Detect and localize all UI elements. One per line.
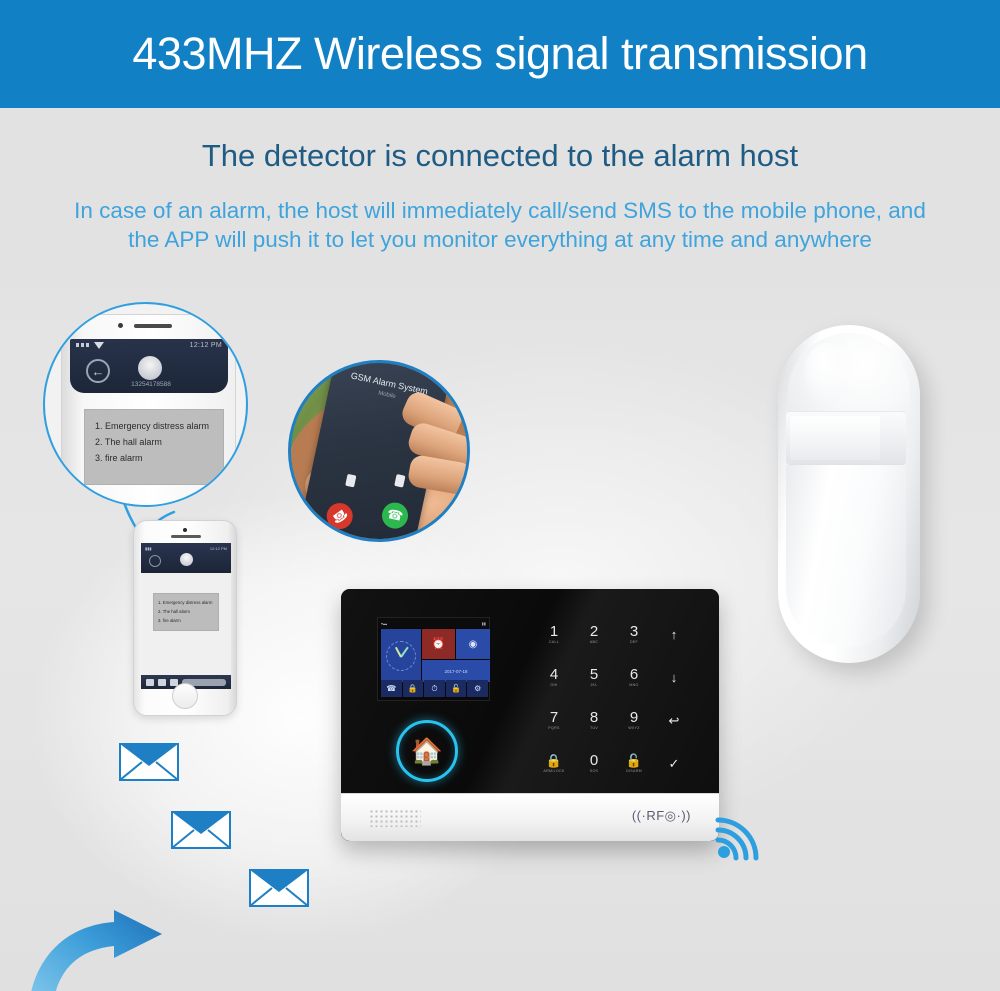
key-digit: 3 (630, 625, 638, 639)
arrow-down-icon: ↓ (671, 671, 678, 685)
sms-line: 1. Emergency distress alarm (95, 418, 215, 434)
panel-base: ((·RF◎·)) (341, 793, 719, 841)
sms-line: 2. The hall alarm (158, 607, 218, 616)
home-button[interactable] (172, 683, 198, 709)
speaker-grille-icon (369, 809, 421, 827)
incoming-call-callout-circle: GSM Alarm System Mobile ☎ ☎ (288, 360, 470, 542)
lcd-icon-row: ☎ 🔒 ⏱ 🔓 ⚙ (381, 680, 488, 697)
infographic-page: 433MHZ Wireless signal transmission The … (0, 0, 1000, 991)
key-back[interactable]: ↩ (654, 699, 694, 742)
key-letters: PQRS (548, 726, 559, 730)
sms-line: 2. The hall alarm (95, 434, 215, 450)
key-8[interactable]: 8 TUV (574, 699, 614, 742)
envelope-icon (248, 866, 310, 910)
key-letters: ARM/LOCK (543, 769, 564, 773)
back-arrow-icon[interactable] (149, 555, 161, 567)
alarm-bell-tile[interactable]: ⏰ (422, 629, 455, 659)
globe-tile[interactable]: ◉ (456, 629, 490, 659)
phone-answer-icon[interactable]: ☎ (380, 500, 411, 531)
key-3[interactable]: 3 DEF (614, 613, 654, 656)
alarm-bell-icon: ⏰ (432, 639, 446, 650)
iphone-screen: ▮▮▮ 12:12 PM 1. Emergency distress alarm… (141, 543, 231, 689)
settings-icon[interactable]: ⚙ (467, 680, 488, 697)
wifi-icon (94, 342, 104, 349)
phone-hangup-icon[interactable]: ☎ (322, 498, 358, 534)
status-time: 12:12 PM (210, 546, 227, 551)
key-letters: DEF (630, 640, 638, 644)
earpiece-speaker (171, 535, 201, 538)
arrow-up-icon: ↑ (671, 628, 678, 642)
checkmark-icon: ✓ (669, 757, 680, 771)
camera-icon (146, 679, 154, 686)
key-digit: 7 (550, 711, 558, 725)
envelope-icon (170, 808, 232, 852)
unlock-icon: 🔓 (626, 754, 642, 768)
lcd-status-left: ▾▬ (381, 621, 387, 626)
key-letters: GHI (550, 683, 557, 687)
key-digit: 6 (630, 668, 638, 682)
fresnel-lens (786, 411, 906, 465)
key-digit: 8 (590, 711, 598, 725)
status-bar: 12:12 PM (70, 339, 228, 351)
sms-app-bar: 12:12 PM ← 13254178588 (70, 339, 228, 393)
avatar (180, 553, 193, 566)
sms-app-bar: ▮▮▮ 12:12 PM (141, 543, 231, 573)
key-2[interactable]: 2 ABC (574, 613, 614, 656)
key-letters: CALL (549, 640, 559, 644)
gallery-icon (158, 679, 166, 686)
key-arm-lock[interactable]: 🔒 ARM/LOCK (534, 742, 574, 785)
key-digit: 4 (550, 668, 558, 682)
sms-line: 1. Emergency distress alarm (158, 598, 218, 607)
key-4[interactable]: 4 GHI (534, 656, 574, 699)
wifi-signal-icon (714, 816, 760, 862)
product-stage: 12:12 PM ← 13254178588 1. Emergency dist… (0, 288, 1000, 991)
key-letters: TUV (590, 726, 598, 730)
pir-motion-detector (778, 325, 920, 663)
key-letters: MNO (629, 683, 638, 687)
header-band: 433MHZ Wireless signal transmission (0, 0, 1000, 108)
key-9[interactable]: 9 WXYZ (614, 699, 654, 742)
rfid-logo: ((·RF◎·)) (632, 808, 691, 824)
key-letters: DISARM (626, 769, 642, 773)
bell-icon[interactable]: ⏱ (424, 680, 445, 697)
alarm-host-panel: ▾▬ ▮▮ ⏰ ◉ 2017-07- (341, 589, 719, 841)
body-copy: In case of an alarm, the host will immed… (70, 196, 930, 254)
callout-phone-body: 12:12 PM ← 13254178588 1. Emergency dist… (61, 314, 236, 507)
lcd-status-right: ▮▮ (482, 621, 486, 626)
front-camera-icon (118, 323, 123, 328)
page-title: 433MHZ Wireless signal transmission (132, 28, 867, 80)
key-letters: JKL (590, 683, 597, 687)
key-letters: WXYZ (628, 726, 640, 730)
lcd-tile-grid: ⏰ ◉ 2017-07-18 (381, 629, 488, 681)
status-bar: ▮▮▮ 12:12 PM (145, 545, 227, 551)
date-tile: 2017-07-18 (422, 660, 490, 682)
key-digit: 2 (590, 625, 598, 639)
sms-message-bubble: 1. Emergency distress alarm 2. The hall … (84, 409, 224, 485)
lcd-status-bar: ▾▬ ▮▮ (378, 618, 489, 628)
panel-lcd-screen: ▾▬ ▮▮ ⏰ ◉ 2017-07- (377, 617, 490, 701)
key-letters: SOS (590, 769, 599, 773)
sms-message-bubble: 1. Emergency distress alarm 2. The hall … (153, 593, 219, 631)
detector-body (786, 465, 906, 647)
key-digit: 5 (590, 668, 598, 682)
status-time: 12:12 PM (190, 342, 222, 349)
key-5[interactable]: 5 JKL (574, 656, 614, 699)
clock-icon (386, 641, 416, 671)
unlock-icon[interactable]: 🔓 (446, 680, 467, 697)
avatar (138, 356, 162, 380)
detector-highlight (804, 343, 850, 403)
lcd-date: 2017-07-18 (444, 669, 467, 674)
phone-icon[interactable]: ☎ (381, 680, 402, 697)
sms-line: 3. fire alarm (95, 450, 215, 466)
key-digit: 0 (590, 754, 598, 768)
sms-line: 3. fire alarm (158, 616, 218, 625)
key-disarm[interactable]: 🔓 DISARM (614, 742, 654, 785)
lock-icon: 🔒 (546, 754, 562, 768)
envelope-icon (118, 740, 180, 784)
message-icon (394, 474, 405, 488)
iphone-device: ▮▮▮ 12:12 PM 1. Emergency distress alarm… (133, 520, 237, 716)
key-confirm[interactable]: ✓ (654, 742, 694, 785)
lock-icon[interactable]: 🔒 (403, 680, 424, 697)
remind-me-icon (345, 474, 356, 488)
back-return-icon: ↩ (669, 714, 680, 728)
clock-widget-tile[interactable] (381, 629, 421, 682)
back-arrow-icon[interactable]: ← (86, 359, 110, 383)
key-digit: 1 (550, 625, 558, 639)
curved-arrow-up-right-icon (22, 908, 172, 991)
status-left: ▮▮▮ (145, 546, 152, 551)
key-down-arrow[interactable]: ↓ (654, 656, 694, 699)
key-6[interactable]: 6 MNO (614, 656, 654, 699)
subtitle: The detector is connected to the alarm h… (0, 138, 1000, 174)
key-letters: ABC (590, 640, 598, 644)
globe-icon: ◉ (469, 639, 478, 650)
panel-keypad: 1 CALL 2 ABC 3 DEF ↑ 4 GHI (534, 613, 694, 785)
contact-number: 13254178588 (118, 381, 184, 388)
key-digit: 9 (630, 711, 638, 725)
key-7[interactable]: 7 PQRS (534, 699, 574, 742)
signal-bars-icon (76, 342, 104, 349)
sms-callout-circle: 12:12 PM ← 13254178588 1. Emergency dist… (43, 302, 248, 507)
key-1[interactable]: 1 CALL (534, 613, 574, 656)
panel-home-button[interactable]: 🏠 (396, 720, 458, 782)
front-camera-icon (183, 528, 187, 532)
key-up-arrow[interactable]: ↑ (654, 613, 694, 656)
key-0[interactable]: 0 SOS (574, 742, 614, 785)
earpiece-speaker (134, 324, 172, 328)
home-icon: 🏠 (411, 738, 443, 764)
